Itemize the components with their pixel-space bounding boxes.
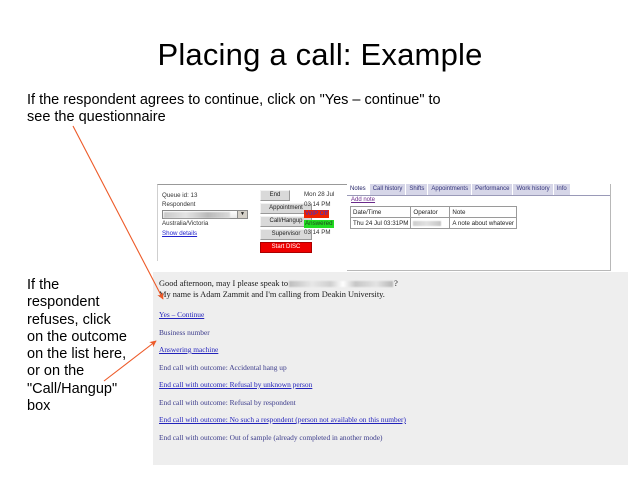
notes-panel: Notes Call history Shifts Appointments P… <box>347 184 611 271</box>
callout-text-top: If the respondent agrees to continue, cl… <box>27 92 467 126</box>
outcome-out-of-sample[interactable]: End call with outcome: Out of sample (al… <box>159 433 459 442</box>
outcome-business-number[interactable]: Business number <box>159 328 459 337</box>
outcome-yes-continue[interactable]: Yes – Continue <box>159 310 459 319</box>
column-header-datetime: Date/Time <box>351 207 411 218</box>
cell-note: A note about whatever <box>450 218 517 229</box>
script-line-2: My name is Adam Zammit and I'm calling f… <box>159 289 619 300</box>
page-title: Placing a call: Example <box>0 38 640 72</box>
call-script: Good afternoon, may I please speak to? M… <box>159 278 619 300</box>
script-line-1-before: Good afternoon, may I please speak to <box>159 279 288 288</box>
table-row: Thu 24 Jul 03:31PM A note about whatever <box>351 218 517 229</box>
tab-shifts[interactable]: Shifts <box>406 184 428 195</box>
outcome-refusal-unknown[interactable]: End call with outcome: Refusal by unknow… <box>159 380 459 389</box>
outcome-accidental-hang-up[interactable]: End call with outcome: Accidental hang u… <box>159 363 459 372</box>
embedded-app-screenshot: Queue id: 13 Respondent ▼ Australia/Vict… <box>153 182 628 465</box>
column-header-operator: Operator <box>411 207 450 218</box>
tab-strip-filler <box>571 184 610 195</box>
end-button[interactable]: End <box>260 190 290 201</box>
chevron-down-icon[interactable]: ▼ <box>237 211 247 218</box>
tab-info[interactable]: Info <box>554 184 571 195</box>
call-start-time: 03 14 PM <box>304 200 350 210</box>
cell-datetime: Thu 24 Jul 03:31PM <box>351 218 411 229</box>
respondent-select[interactable]: ▼ <box>162 210 248 219</box>
callout-text-left: If the respondent refuses, click on the … <box>27 277 129 415</box>
tab-notes[interactable]: Notes <box>347 184 370 195</box>
outcome-refusal-respondent[interactable]: End call with outcome: Refusal by respon… <box>159 398 459 407</box>
show-details-link[interactable]: Show details <box>162 229 197 238</box>
column-header-note: Note <box>450 207 517 218</box>
voip-status-badge: VoIP Off <box>304 210 329 218</box>
call-control-panel: Queue id: 13 Respondent ▼ Australia/Vict… <box>157 184 348 261</box>
add-note-link[interactable]: Add note <box>351 197 375 203</box>
outcome-answering-machine[interactable]: Answering machine <box>159 345 459 354</box>
call-end-time: 03 14 PM <box>304 228 350 238</box>
call-date: Mon 28 Jul <box>304 190 350 200</box>
outcome-link-list: Yes – Continue Business number Answering… <box>159 310 459 450</box>
arrow-top <box>73 126 163 299</box>
call-status-column: Mon 28 Jul 03 14 PM VoIP Off Answered 03… <box>304 190 350 238</box>
queue-id-label: Queue id: 13 <box>162 191 256 200</box>
tab-call-history[interactable]: Call history <box>370 184 407 195</box>
app-top-strip: Queue id: 13 Respondent ▼ Australia/Vict… <box>153 182 628 272</box>
call-info-column: Queue id: 13 Respondent ▼ Australia/Vict… <box>162 191 256 238</box>
script-line-1: Good afternoon, may I please speak to? <box>159 278 619 289</box>
script-line-1-after: ? <box>394 279 398 288</box>
cell-operator <box>411 218 450 229</box>
timezone-label: Australia/Victoria <box>162 219 256 228</box>
tab-appointments[interactable]: Appointments <box>428 184 472 195</box>
redacted-respondent-name <box>164 212 230 218</box>
tab-work-history[interactable]: Work history <box>513 184 553 195</box>
tab-performance[interactable]: Performance <box>472 184 513 195</box>
call-status-badge: Answered <box>304 220 334 228</box>
notes-table: Date/Time Operator Note Thu 24 Jul 03:31… <box>350 206 517 229</box>
redacted-respondent-inline <box>289 281 393 287</box>
tab-strip: Notes Call history Shifts Appointments P… <box>347 184 610 196</box>
start-disc-button[interactable]: Start DISC <box>260 242 312 253</box>
table-header-row: Date/Time Operator Note <box>351 207 517 218</box>
outcome-no-such-respondent[interactable]: End call with outcome: No such a respond… <box>159 415 459 424</box>
redacted-operator-name <box>413 221 441 226</box>
respondent-label: Respondent <box>162 200 256 209</box>
